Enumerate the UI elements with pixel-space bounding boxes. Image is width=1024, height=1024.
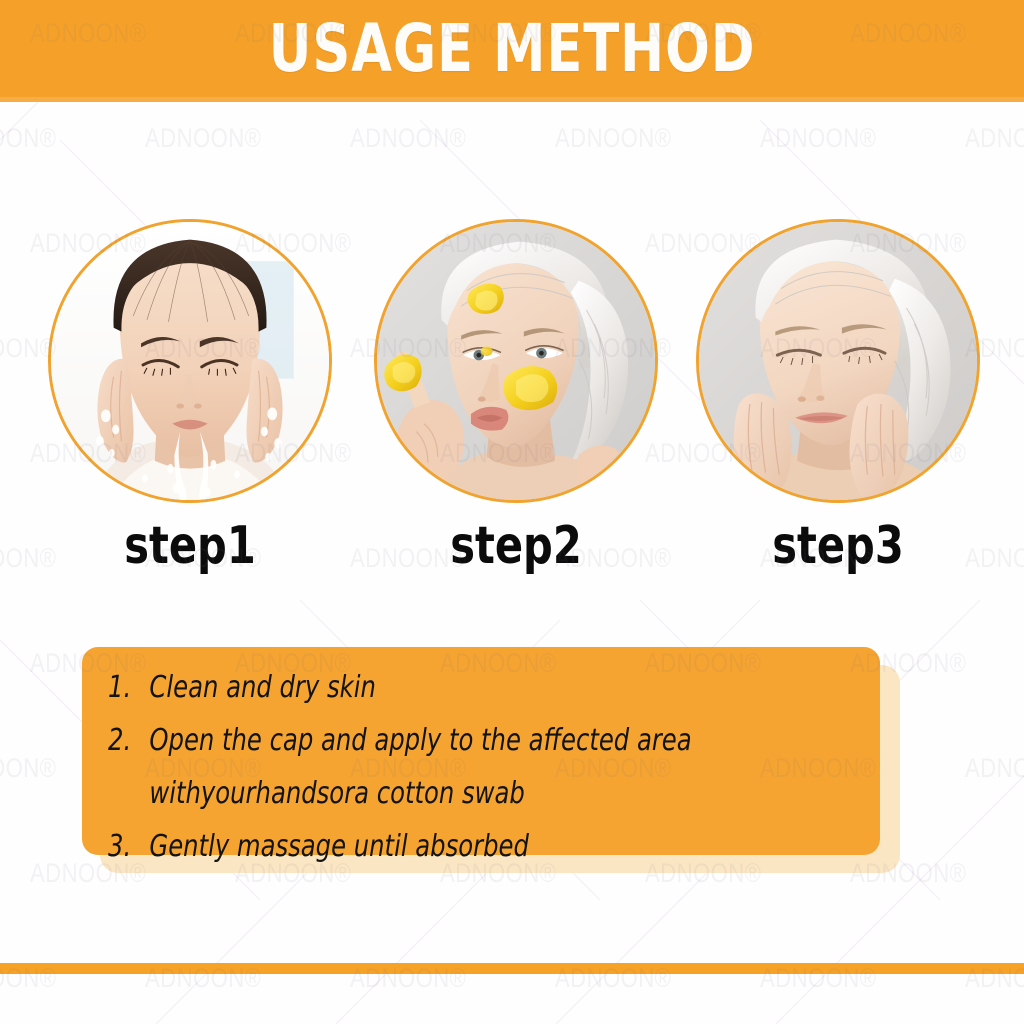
step-image-3 (696, 219, 980, 503)
watermark-text: ADNOON® (965, 123, 1024, 154)
bottom-accent-bar (0, 963, 1024, 974)
step-label-3: step3 (724, 518, 951, 574)
instruction-line: Gently massage until absorbed (149, 820, 779, 873)
watermark-text: ADNOON® (760, 123, 876, 154)
woman-massaging-cream-into-cheeks (699, 222, 977, 500)
step-image-2 (374, 219, 658, 503)
header-band-edge (0, 97, 1024, 102)
watermark-text: ADNOON® (145, 123, 261, 154)
watermark-text: ADNOON® (0, 123, 56, 154)
page-title: USAGE METHOD (102, 14, 921, 84)
instruction-number-1: 1. (108, 661, 149, 714)
infographic-page: USAGE METHOD (0, 0, 1024, 1024)
instruction-text-2: Open the cap and apply to the affected a… (149, 714, 779, 820)
instruction-panel: 1. Clean and dry skin 2. Open the cap an… (82, 647, 880, 855)
instruction-item-2: 2. Open the cap and apply to the affecte… (108, 714, 779, 820)
step-image-1 (48, 219, 332, 503)
woman-washing-face-with-water (51, 222, 329, 500)
woman-applying-yellow-cream-to-face (377, 222, 655, 500)
instruction-item-3: 3. Gently massage until absorbed (108, 820, 779, 873)
watermark-text: ADNOON® (0, 753, 56, 784)
instruction-line: Clean and dry skin (149, 661, 779, 714)
instruction-line: Open the cap and apply to the affected a… (149, 714, 779, 767)
instruction-text-1: Clean and dry skin (149, 661, 779, 714)
instruction-number-2: 2. (108, 714, 149, 767)
step-label-1: step1 (76, 518, 303, 574)
watermark-text: ADNOON® (555, 123, 671, 154)
watermark-text: ADNOON® (0, 543, 56, 574)
instruction-line: withyourhandsora cotton swab (149, 767, 779, 820)
step-label-2: step2 (402, 518, 629, 574)
instruction-text-3: Gently massage until absorbed (149, 820, 779, 873)
watermark-text: ADNOON® (350, 123, 466, 154)
watermark-text: ADNOON® (965, 543, 1024, 574)
instruction-number-3: 3. (108, 820, 149, 873)
instruction-item-1: 1. Clean and dry skin (108, 661, 779, 714)
watermark-text: ADNOON® (965, 753, 1024, 784)
